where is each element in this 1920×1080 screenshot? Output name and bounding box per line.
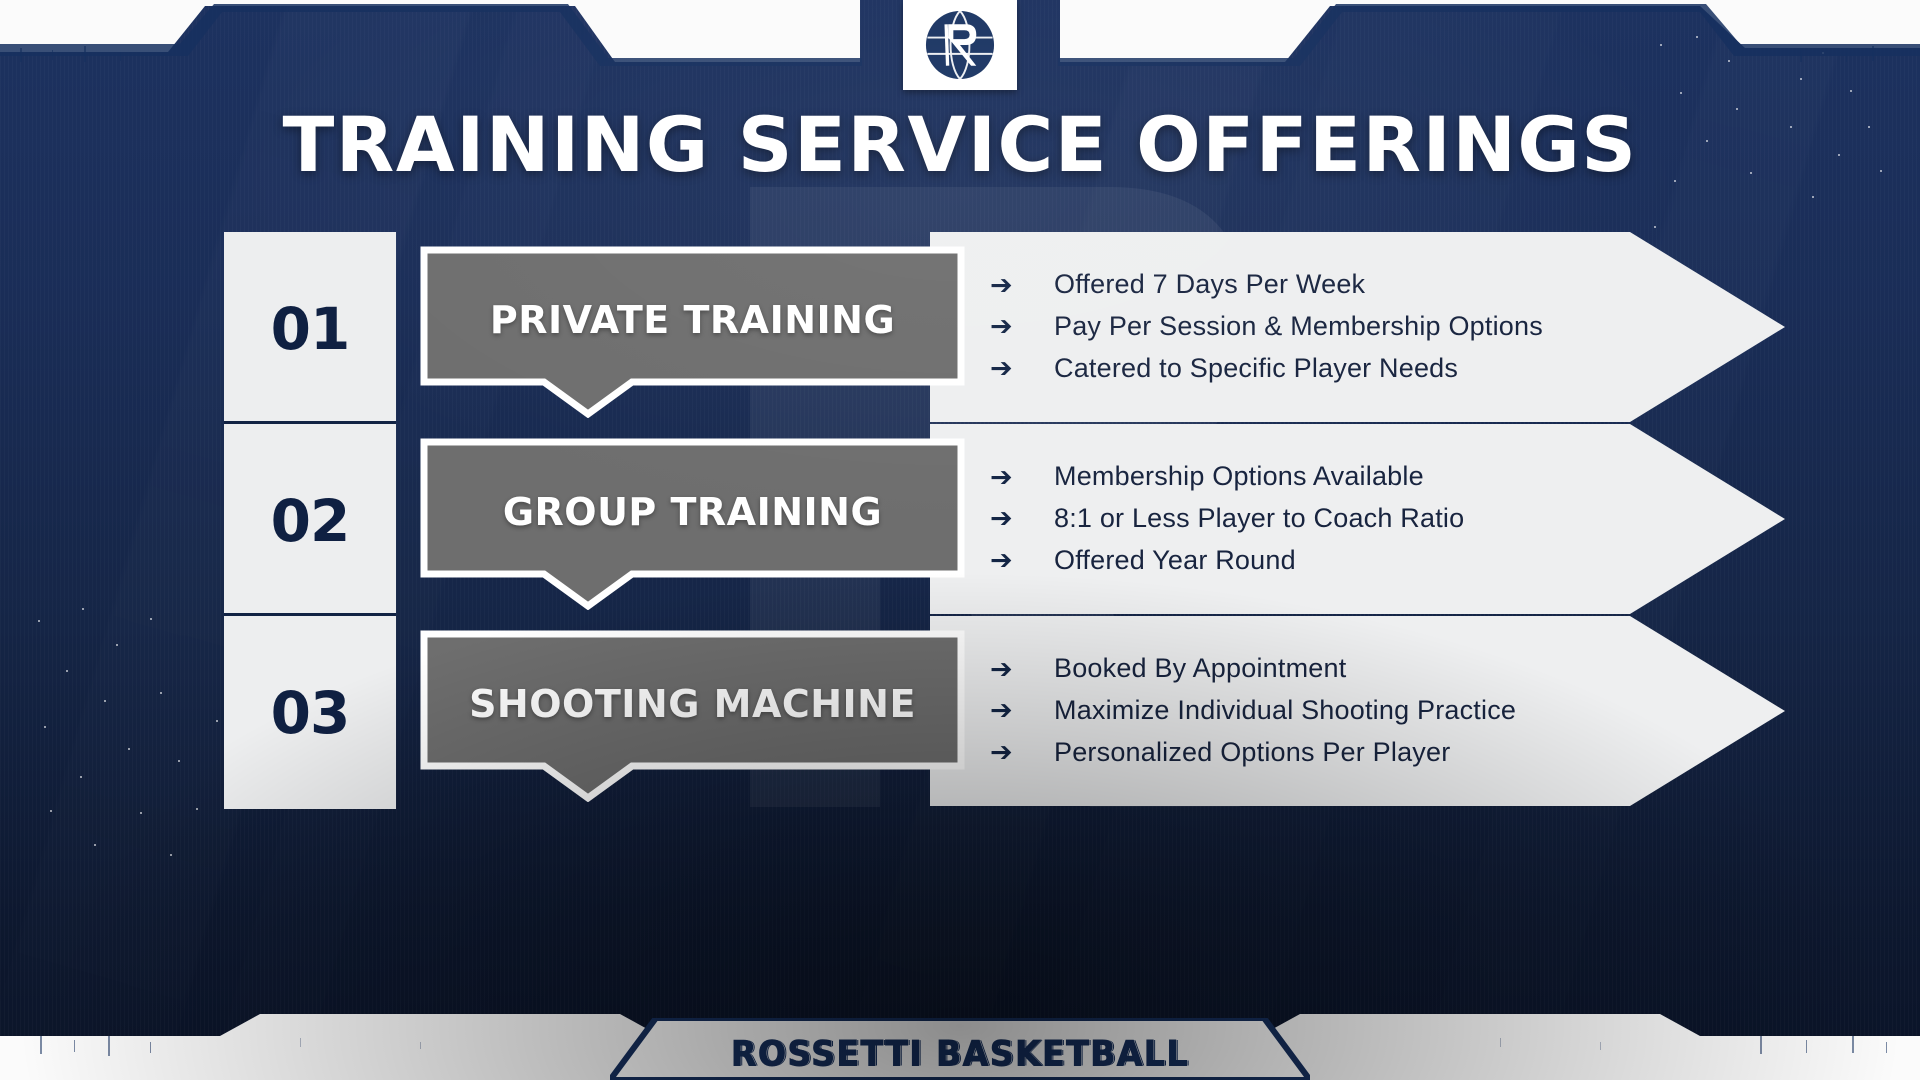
- offering-label-tag-3[interactable]: SHOOTING MACHINE: [420, 630, 965, 802]
- bullet-item: ➔ Booked By Appointment: [990, 653, 1750, 685]
- bullet-text: Offered Year Round: [1054, 545, 1296, 577]
- page-title: TRAINING SERVICE OFFERINGS: [0, 100, 1920, 189]
- offering-bullets-2: ➔ Membership Options Available ➔ 8:1 or …: [990, 424, 1750, 614]
- arrow-right-icon: ➔: [990, 547, 1054, 574]
- bullet-text: Booked By Appointment: [1054, 653, 1346, 685]
- offering-label: GROUP TRAINING: [420, 490, 965, 534]
- bullet-text: Personalized Options Per Player: [1054, 737, 1450, 769]
- offering-content-pane-3: ➔ Booked By Appointment ➔ Maximize Indiv…: [930, 616, 1785, 806]
- arrow-right-icon: ➔: [990, 272, 1054, 299]
- offering-number-box-3: 03: [224, 613, 396, 809]
- offering-number: 01: [271, 295, 350, 363]
- arrow-right-icon: ➔: [990, 355, 1054, 382]
- bullet-item: ➔ Membership Options Available: [990, 461, 1750, 493]
- arrow-right-icon: ➔: [990, 464, 1054, 491]
- offering-label: SHOOTING MACHINE: [420, 682, 965, 726]
- offering-label: PRIVATE TRAINING: [420, 298, 965, 342]
- arrow-right-icon: ➔: [990, 313, 1054, 340]
- arrow-right-icon: ➔: [990, 505, 1054, 532]
- offering-bullets-1: ➔ Offered 7 Days Per Week ➔ Pay Per Sess…: [990, 232, 1750, 422]
- offerings-list: ➔ Offered 7 Days Per Week ➔ Pay Per Sess…: [0, 232, 1920, 806]
- footer-brand-plate: ROSSETTI BASKETBALL: [610, 1018, 1310, 1080]
- offering-label-tag-1[interactable]: PRIVATE TRAINING: [420, 246, 965, 418]
- arrow-right-icon: ➔: [990, 739, 1054, 766]
- bullet-text: Maximize Individual Shooting Practice: [1054, 695, 1516, 727]
- offering-row-1[interactable]: ➔ Offered 7 Days Per Week ➔ Pay Per Sess…: [0, 232, 1920, 422]
- offering-number-box-1: 01: [224, 232, 396, 425]
- brand-logo-tab: [903, 0, 1017, 90]
- offering-content-pane-2: ➔ Membership Options Available ➔ 8:1 or …: [930, 424, 1785, 614]
- offering-bullets-3: ➔ Booked By Appointment ➔ Maximize Indiv…: [990, 616, 1750, 806]
- footer-brand-text: ROSSETTI BASKETBALL: [610, 1033, 1310, 1074]
- bullet-item: ➔ Catered to Specific Player Needs: [990, 353, 1750, 385]
- bullet-item: ➔ Pay Per Session & Membership Options: [990, 311, 1750, 343]
- arrow-right-icon: ➔: [990, 656, 1054, 683]
- bullet-text: Offered 7 Days Per Week: [1054, 269, 1365, 301]
- offering-number: 03: [271, 679, 350, 747]
- offering-label-tag-2[interactable]: GROUP TRAINING: [420, 438, 965, 610]
- bullet-item: ➔ Offered Year Round: [990, 545, 1750, 577]
- bullet-text: 8:1 or Less Player to Coach Ratio: [1054, 503, 1464, 535]
- slide-background: TRAINING SERVICE OFFERINGS ➔ Offered 7 D…: [0, 0, 1920, 1080]
- bullet-item: ➔ Maximize Individual Shooting Practice: [990, 695, 1750, 727]
- offering-content-pane-1: ➔ Offered 7 Days Per Week ➔ Pay Per Sess…: [930, 232, 1785, 422]
- bullet-item: ➔ 8:1 or Less Player to Coach Ratio: [990, 503, 1750, 535]
- offering-row-3[interactable]: ➔ Booked By Appointment ➔ Maximize Indiv…: [0, 616, 1920, 806]
- bullet-text: Catered to Specific Player Needs: [1054, 353, 1458, 385]
- bullet-text: Pay Per Session & Membership Options: [1054, 311, 1543, 343]
- arrow-right-icon: ➔: [990, 697, 1054, 724]
- offering-number-box-2: 02: [224, 421, 396, 617]
- bullet-item: ➔ Personalized Options Per Player: [990, 737, 1750, 769]
- bullet-text: Membership Options Available: [1054, 461, 1424, 493]
- rossetti-basketball-logo-icon: [923, 8, 997, 82]
- offering-number: 02: [271, 487, 350, 555]
- offering-row-2[interactable]: ➔ Membership Options Available ➔ 8:1 or …: [0, 424, 1920, 614]
- bullet-item: ➔ Offered 7 Days Per Week: [990, 269, 1750, 301]
